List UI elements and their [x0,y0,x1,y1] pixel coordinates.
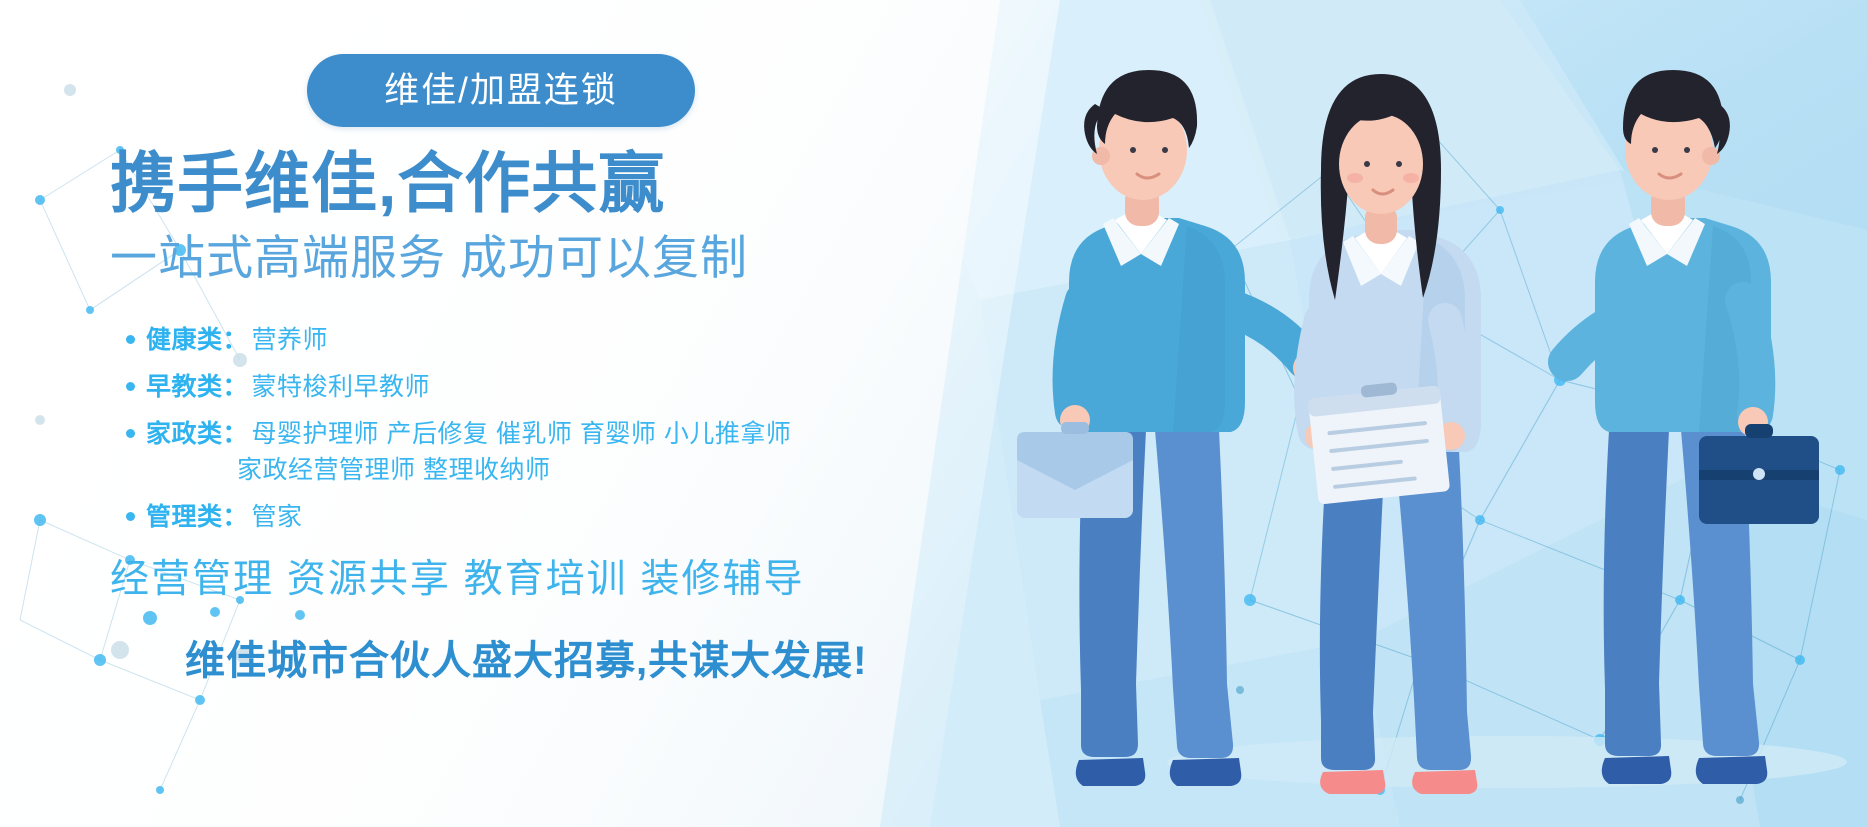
category-separator: ： [223,320,248,356]
category-services: 营养师 [252,320,329,356]
category-services-line2: 家政经营管理师 整理收纳师 [237,450,550,486]
recruitment-slogan: 维佳城市合伙人盛大招募,共谋大发展! [185,628,867,686]
list-item: 管理类 ： 管家 [126,497,946,533]
list-item: 健康类 ： 营养师 [126,320,946,356]
bullet-dot-icon [126,382,135,391]
category-name: 家政类 [146,414,223,450]
category-separator: ： [223,414,248,450]
headline: 携手维佳,合作共赢 [110,148,665,219]
services-row: 经营管理 资源共享 教育培训 装修辅导 [110,548,805,604]
figure-woman-center [1305,74,1481,794]
brand-badge-label: 维佳/加盟连锁 [384,73,618,108]
category-separator: ： [223,497,248,533]
people-illustration [987,0,1867,827]
category-list: 健康类 ： 营养师 早教类 ： 蒙特梭利早教师 家政类 ： [126,320,946,544]
list-item: 家政类 ： 母婴护理师 产后修复 催乳师 育婴师 小儿推拿师 家政经营管理师 整… [126,414,946,486]
brand-badge[interactable]: 维佳/加盟连锁 [307,54,695,127]
category-services: 蒙特梭利早教师 [252,367,431,403]
figure-man-right [1567,70,1819,784]
category-name: 健康类 [146,320,223,356]
figure-man-left [1017,70,1325,786]
promo-banner: 维佳/加盟连锁 携手维佳,合作共赢 一站式高端服务 成功可以复制 健康类 ： 营… [0,0,1867,827]
subheadline: 一站式高端服务 成功可以复制 [110,232,748,285]
category-name: 早教类 [146,367,223,403]
bullet-dot-icon [126,512,135,521]
bullet-dot-icon [126,429,135,438]
category-services: 母婴护理师 产后修复 催乳师 育婴师 小儿推拿师 [252,414,792,450]
category-separator: ： [223,367,248,403]
list-item: 早教类 ： 蒙特梭利早教师 [126,367,946,403]
bullet-dot-icon [126,335,135,344]
category-services: 管家 [252,497,303,533]
category-name: 管理类 [146,497,223,533]
